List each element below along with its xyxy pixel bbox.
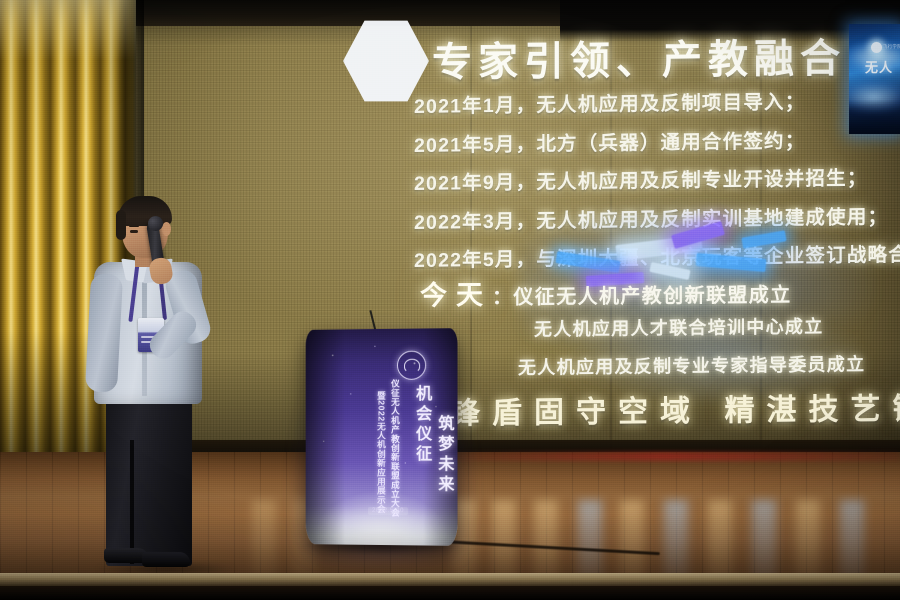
slide-bullet-item: 2022年3月，无人机应用及反制实训基地建成使用； [414,208,900,233]
stage-front-lip [0,573,900,587]
speaker-trousers [106,396,192,566]
speaker-shoe [142,552,190,567]
slide-today-text: 仪征无人机产教创新联盟成立 [513,284,791,308]
slide-bullet-item: 2022年5月，与深圳大疆、北京玩客等企业签订战略合作协议； [414,246,900,271]
speaker-eye [130,230,138,233]
side-screen-banner: 飞行学院 无人 [849,24,900,134]
podium-main-text-left: 机会仪征 [409,385,431,465]
slide-bullet-list: 2021年1月，无人机应用及反制项目导入； 2021年5月，北方（兵器）通用合作… [414,95,900,288]
slide-slogan: 锋盾固守空域 精湛技艺铸 [450,383,900,432]
stage-front-edge [0,586,900,600]
slide-today-keyword: 今天 [420,280,492,311]
slide-sub-line-1: 无人机应用人才联合培训中心成立 [534,312,824,341]
speaker-hair-side [116,210,126,240]
speaker [88,196,238,566]
podium-main-text-right: 筑梦未来 [431,415,453,496]
podium-date-plate: 2022.5.20 [368,507,408,515]
school-emblem-icon [397,351,426,380]
drone-academy-logo-icon [871,42,882,53]
slide-title: 专家引领、产教融合 [432,26,846,88]
slide-today-separator: ： [492,287,513,309]
podium: 筑梦未来 机会仪征 仪征无人机产教创新联盟成立大会 暨2022无人机创新应用展示… [306,328,458,546]
slide-bullet-item: 2021年1月，无人机应用及反制项目导入； [414,92,900,117]
podium-sub-text-left: 暨2022无人机创新应用展示会 [375,391,387,519]
presentation-photo: 专家引领、产教融合 2021年1月，无人机应用及反制项目导入； 2021年5月，… [0,0,900,600]
side-screen-fade [849,100,900,134]
slide-bullet-item: 2021年9月，无人机应用及反制专业开设并招生； [414,169,900,194]
speaker-leg-separation [130,440,134,564]
side-screen-small-text: 飞行学院 [883,44,900,50]
side-screen-headline: 无人 [865,57,893,76]
speaker-left-arm [85,273,123,393]
curtain-highlight [0,0,136,60]
slide-sub-line-2: 无人机应用及反制专业专家指导委员成立 [518,350,865,380]
slide-today-row: 今天：仪征无人机产教创新联盟成立 [420,270,792,312]
stage-back-red-glow [430,452,900,461]
podium-left-shading [306,329,345,544]
speaker-ear [162,222,171,236]
slide-bullet-item: 2021年5月，北方（兵器）通用合作签约； [414,131,900,156]
